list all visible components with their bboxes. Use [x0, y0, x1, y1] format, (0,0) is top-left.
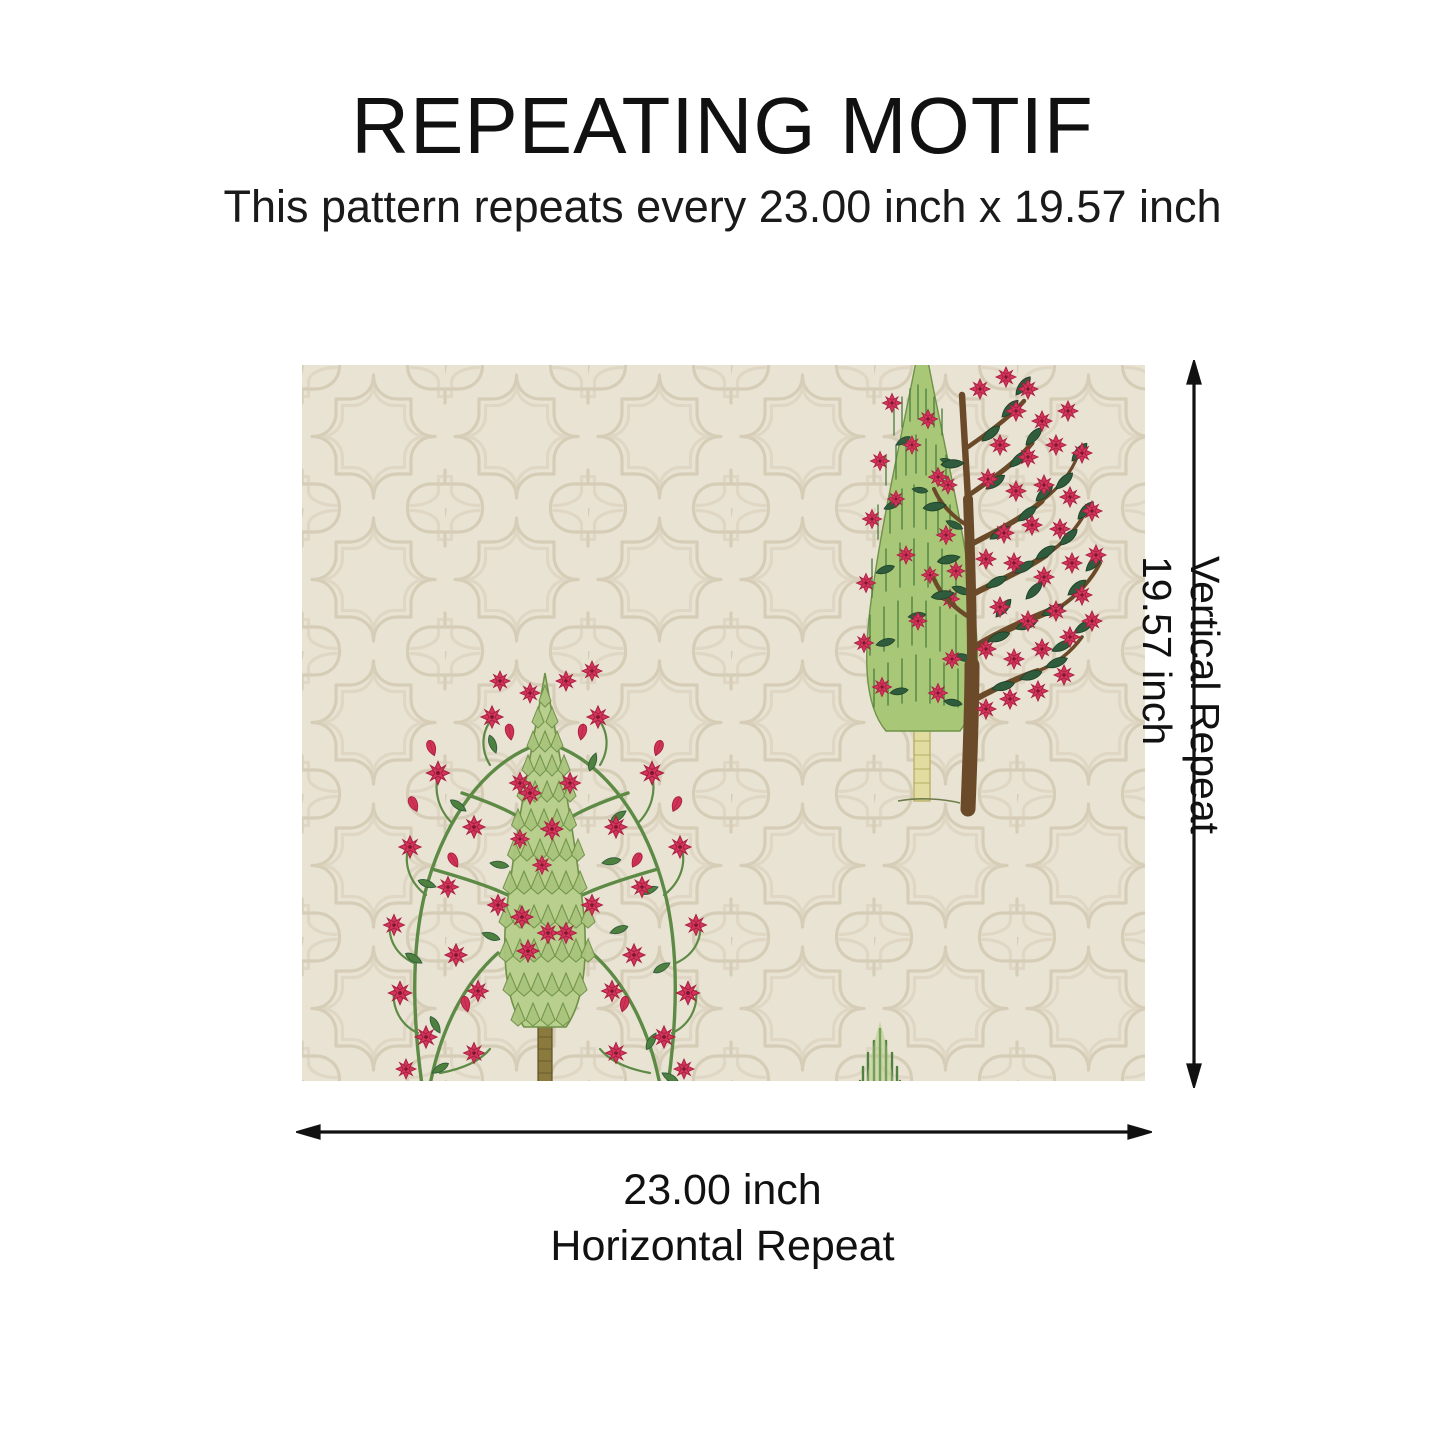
- horizontal-repeat-arrow: [296, 1114, 1152, 1150]
- repeat-summary-text: This pattern repeats every 23.00 inch x …: [0, 182, 1445, 232]
- motif-tall-cypress-and-flowering-tree: [820, 365, 1145, 819]
- page-title: REPEATING MOTIF: [0, 86, 1445, 166]
- tall-cypress: [852, 365, 978, 801]
- vertical-repeat-label: Vertical Repeat 19.57 inch: [1132, 556, 1229, 916]
- wallpaper-swatch-panel: [302, 365, 1145, 1081]
- motif-cypress-with-flowering-vines: [370, 633, 720, 1081]
- horizontal-repeat-label-line1: 23.00 inch: [0, 1163, 1445, 1219]
- vertical-repeat-label-line2: 19.57 inch: [1132, 556, 1180, 916]
- vertical-repeat-label-line1: Vertical Repeat: [1182, 556, 1228, 834]
- motif-partial-cypress-repeat: [850, 995, 1010, 1081]
- cypress-trunk: [538, 1025, 552, 1081]
- horizontal-repeat-label-line2: Horizontal Repeat: [0, 1219, 1445, 1275]
- horizontal-repeat-label: 23.00 inch Horizontal Repeat: [0, 1163, 1445, 1275]
